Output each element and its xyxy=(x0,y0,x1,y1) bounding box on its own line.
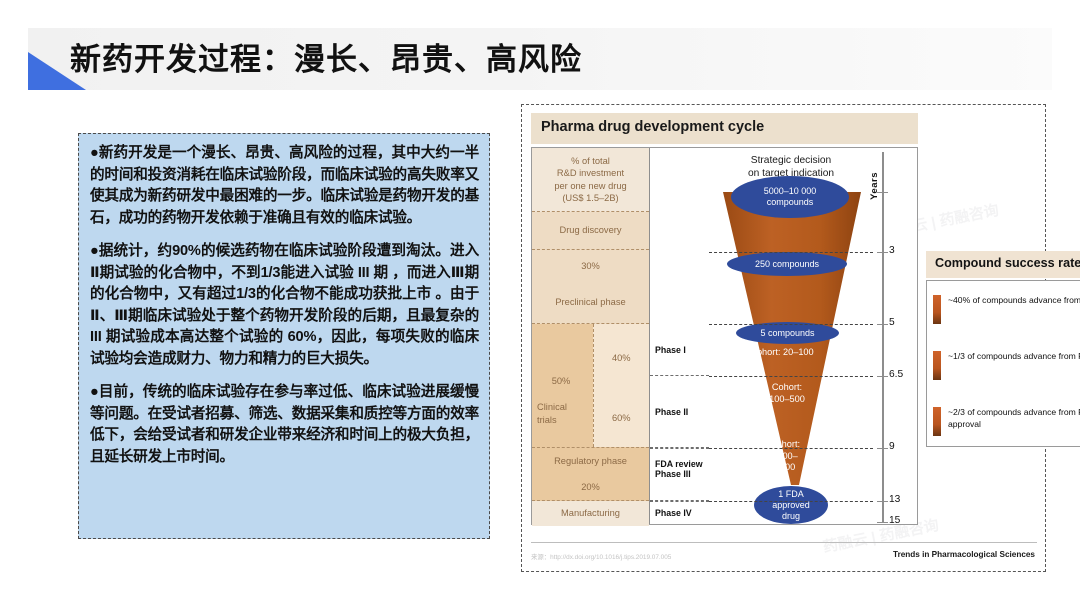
year-value: 9 xyxy=(889,441,895,452)
fda-bubble-line3: drug xyxy=(782,511,800,522)
success-body: ~40% of compounds advance from Phase I t… xyxy=(926,280,1080,447)
cohort3-line3: 5000 xyxy=(709,462,867,474)
year-tick xyxy=(877,448,888,449)
years-axis-line xyxy=(882,152,884,522)
paragraph-2: ●据统计，约90%的候选药物在临床试验阶段遭到淘汰。进入Ⅱ期试验的化合物中，不到… xyxy=(90,241,479,370)
funnel-bubble-2: 250 compounds xyxy=(727,252,847,276)
phase-cell-2: Phase II xyxy=(650,376,709,448)
year-value: 6.5 xyxy=(889,369,903,380)
phase-cell-1: Phase I xyxy=(650,324,709,376)
figure-footer-divider xyxy=(531,542,1037,543)
phase-label-fda-review: FDA review xyxy=(655,459,703,469)
year-tick xyxy=(877,376,888,377)
year-value: 15 xyxy=(889,515,900,526)
year-rule xyxy=(709,324,873,325)
funnel-label-cohort-3: Cohort: 1000– 5000 xyxy=(709,439,867,474)
phase-label-phase-iv: Phase IV xyxy=(655,508,692,518)
drug-development-cycle: Pharma drug development cycle % of total… xyxy=(531,113,918,525)
cohort2-line1: Cohort: xyxy=(709,382,869,394)
year-rule xyxy=(709,252,873,253)
success-item-text: ~40% of compounds advance from Phase I t… xyxy=(948,295,1080,324)
year-rule xyxy=(709,448,873,449)
funnel-diagram: Strategic decision on target indication xyxy=(709,148,873,524)
success-item-text: ~1/3 of compounds advance from Phase II … xyxy=(948,351,1080,380)
clinical-value-60: 60% xyxy=(594,412,650,424)
clinical-label-line2: trials xyxy=(537,414,557,426)
investment-header-cell: % of total R&D investment per one new dr… xyxy=(532,148,649,212)
investment-row-discovery: Drug discovery xyxy=(532,212,649,250)
year-value: 3 xyxy=(889,245,895,256)
inv-label: Preclinical phase xyxy=(555,296,625,308)
inv-header-line-1: % of total xyxy=(571,155,610,167)
years-axis-label: Years xyxy=(869,172,893,200)
funnel-bubble-1: 5000–10 000 compounds xyxy=(731,176,849,218)
inv-label: Manufacturing xyxy=(561,507,620,519)
investment-column: % of total R&D investment per one new dr… xyxy=(532,148,649,524)
year-tick xyxy=(877,522,888,523)
paragraph-1: ●新药开发是一个漫长、昂贵、高风险的过程，其中大约一半的时间和投资消耗在临床试验… xyxy=(90,143,479,229)
cycle-header: Pharma drug development cycle xyxy=(531,113,918,144)
success-item: ~2/3 of compounds advance from Phase III… xyxy=(933,407,1080,436)
figure-panel: 药融云 | 药融咨询 药融云 | 药融咨询 药融云 | 药融咨询 Pharma … xyxy=(521,104,1046,572)
success-header: Compound success rates for clinical tria… xyxy=(926,251,1080,278)
bubble-text: 5 compounds xyxy=(760,328,814,339)
inv-header-line-3: per one new drug xyxy=(554,180,626,192)
year-value: 13 xyxy=(889,494,900,505)
paragraph-3: ●目前，传统的临床试验存在参与率过低、临床试验进展缓慢等问题。在受试者招募、筛选… xyxy=(90,382,479,468)
bubble-text-line2: compounds xyxy=(767,197,814,208)
phase-label: Phase I xyxy=(655,345,686,355)
phase-divider xyxy=(650,448,709,449)
investment-row-regulatory: Regulatory phase xyxy=(532,448,649,475)
inv-header-line-4: (US$ 1.5–2B) xyxy=(562,192,618,204)
clinical-label-line1: Clinical xyxy=(537,401,567,413)
investment-row-preclinical: Preclinical phase xyxy=(532,282,649,324)
investment-row-clinical: Clinical trials 40% 60% xyxy=(532,324,649,448)
phase-label: Phase II xyxy=(655,407,688,417)
year-tick xyxy=(877,501,888,502)
funnel-label-cohort-1: cohort: 20–100 xyxy=(709,347,865,359)
investment-row-manufacturing: Manufacturing xyxy=(532,501,649,526)
cycle-body: % of total R&D investment per one new dr… xyxy=(531,147,918,525)
funnel-bubble-fda: 1 FDA approved drug xyxy=(754,486,828,524)
summary-text-card: ●新药开发是一个漫长、昂贵、高风险的过程，其中大约一半的时间和投资消耗在临床试验… xyxy=(78,133,490,539)
inv-label: Drug discovery xyxy=(559,224,621,236)
investment-row-regulatory-value: 20% xyxy=(532,475,649,501)
clinical-value-40: 40% xyxy=(594,352,650,364)
funnel-bubble-3: 5 compounds xyxy=(736,322,839,344)
success-items: ~40% of compounds advance from Phase I t… xyxy=(927,281,1080,446)
clinical-value-50: 50% xyxy=(532,376,590,386)
year-value: 5 xyxy=(889,317,895,328)
success-item: ~40% of compounds advance from Phase I t… xyxy=(933,295,1080,324)
bar-icon xyxy=(933,407,941,436)
year-tick xyxy=(877,252,888,253)
cohort3-line2: 1000– xyxy=(709,451,867,463)
phase-label: Phase III xyxy=(655,469,691,479)
phase-cell-3: Phase III xyxy=(650,448,709,501)
bubble-text: 250 compounds xyxy=(755,259,819,270)
investment-row-discovery-value: 30% xyxy=(532,250,649,282)
year-tick xyxy=(877,324,888,325)
cycle-header-label: Pharma drug development cycle xyxy=(541,119,764,135)
source-note: 来源：http://dx.doi.org/10.1016/j.tips.2019… xyxy=(531,552,671,561)
inv-value: 30% xyxy=(581,260,600,272)
year-tick xyxy=(877,192,888,193)
bubble-text-line1: 5000–10 000 xyxy=(764,186,817,197)
inv-value: 20% xyxy=(581,481,600,493)
cohort2-line2: 100–500 xyxy=(709,394,869,406)
bar-icon xyxy=(933,295,941,324)
clinical-values: 40% 60% xyxy=(593,324,650,447)
success-header-label: Compound success rates for clinical tria… xyxy=(935,256,1080,270)
funnel-label-cohort-2: Cohort: 100–500 xyxy=(709,382,869,405)
inv-header-line-2: R&D investment xyxy=(557,167,624,179)
success-item-text: ~2/3 of compounds advance from Phase III… xyxy=(948,407,1080,436)
phase-divider xyxy=(650,501,709,502)
year-rule xyxy=(709,376,873,377)
fda-bubble-line1: 1 FDA xyxy=(778,489,804,500)
success-item: ~1/3 of compounds advance from Phase II … xyxy=(933,351,1080,380)
success-rates-box: Compound success rates for clinical tria… xyxy=(926,251,1080,447)
bar-icon xyxy=(933,351,941,380)
year-rule xyxy=(709,501,873,502)
page-title: 新药开发过程：漫长、昂贵、高风险 xyxy=(70,34,582,79)
years-axis: Years 3 5 6.5 9 13 15 xyxy=(873,148,917,524)
journal-credit: Trends in Pharmacological Sciences xyxy=(893,550,1035,559)
inv-label: Regulatory phase xyxy=(554,455,627,467)
